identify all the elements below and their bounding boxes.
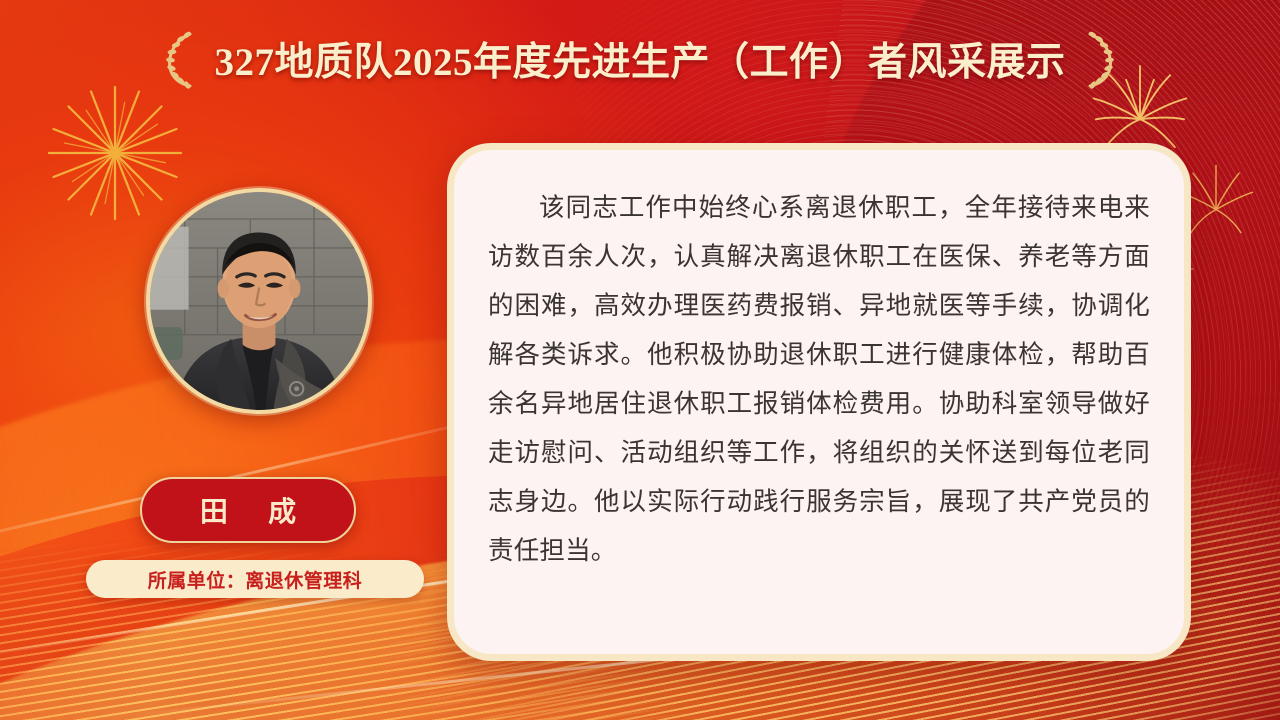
unit-label: 所属单位：离退休管理科 bbox=[148, 566, 363, 593]
description-text: 该同志工作中始终心系离退休职工，全年接待来电来访数百余人次，认真解决离退休职工在… bbox=[488, 184, 1150, 576]
person-name: 田 成 bbox=[194, 490, 303, 530]
avatar bbox=[146, 188, 372, 414]
laurel-branch-left-icon bbox=[160, 28, 200, 90]
header: 327地质队2025年度先进生产（工作）者风采展示 bbox=[0, 0, 1280, 118]
poster-stage: 327地质队2025年度先进生产（工作）者风采展示 bbox=[0, 0, 1280, 720]
name-badge: 田 成 bbox=[140, 477, 356, 543]
description-card: 该同志工作中始终心系离退休职工，全年接待来电来访数百余人次，认真解决离退休职工在… bbox=[447, 143, 1191, 661]
laurel-branch-right-icon bbox=[1080, 28, 1120, 90]
unit-badge: 所属单位：离退休管理科 bbox=[86, 560, 424, 598]
avatar-ring bbox=[146, 188, 372, 414]
page-title: 327地质队2025年度先进生产（工作）者风采展示 bbox=[214, 31, 1065, 87]
